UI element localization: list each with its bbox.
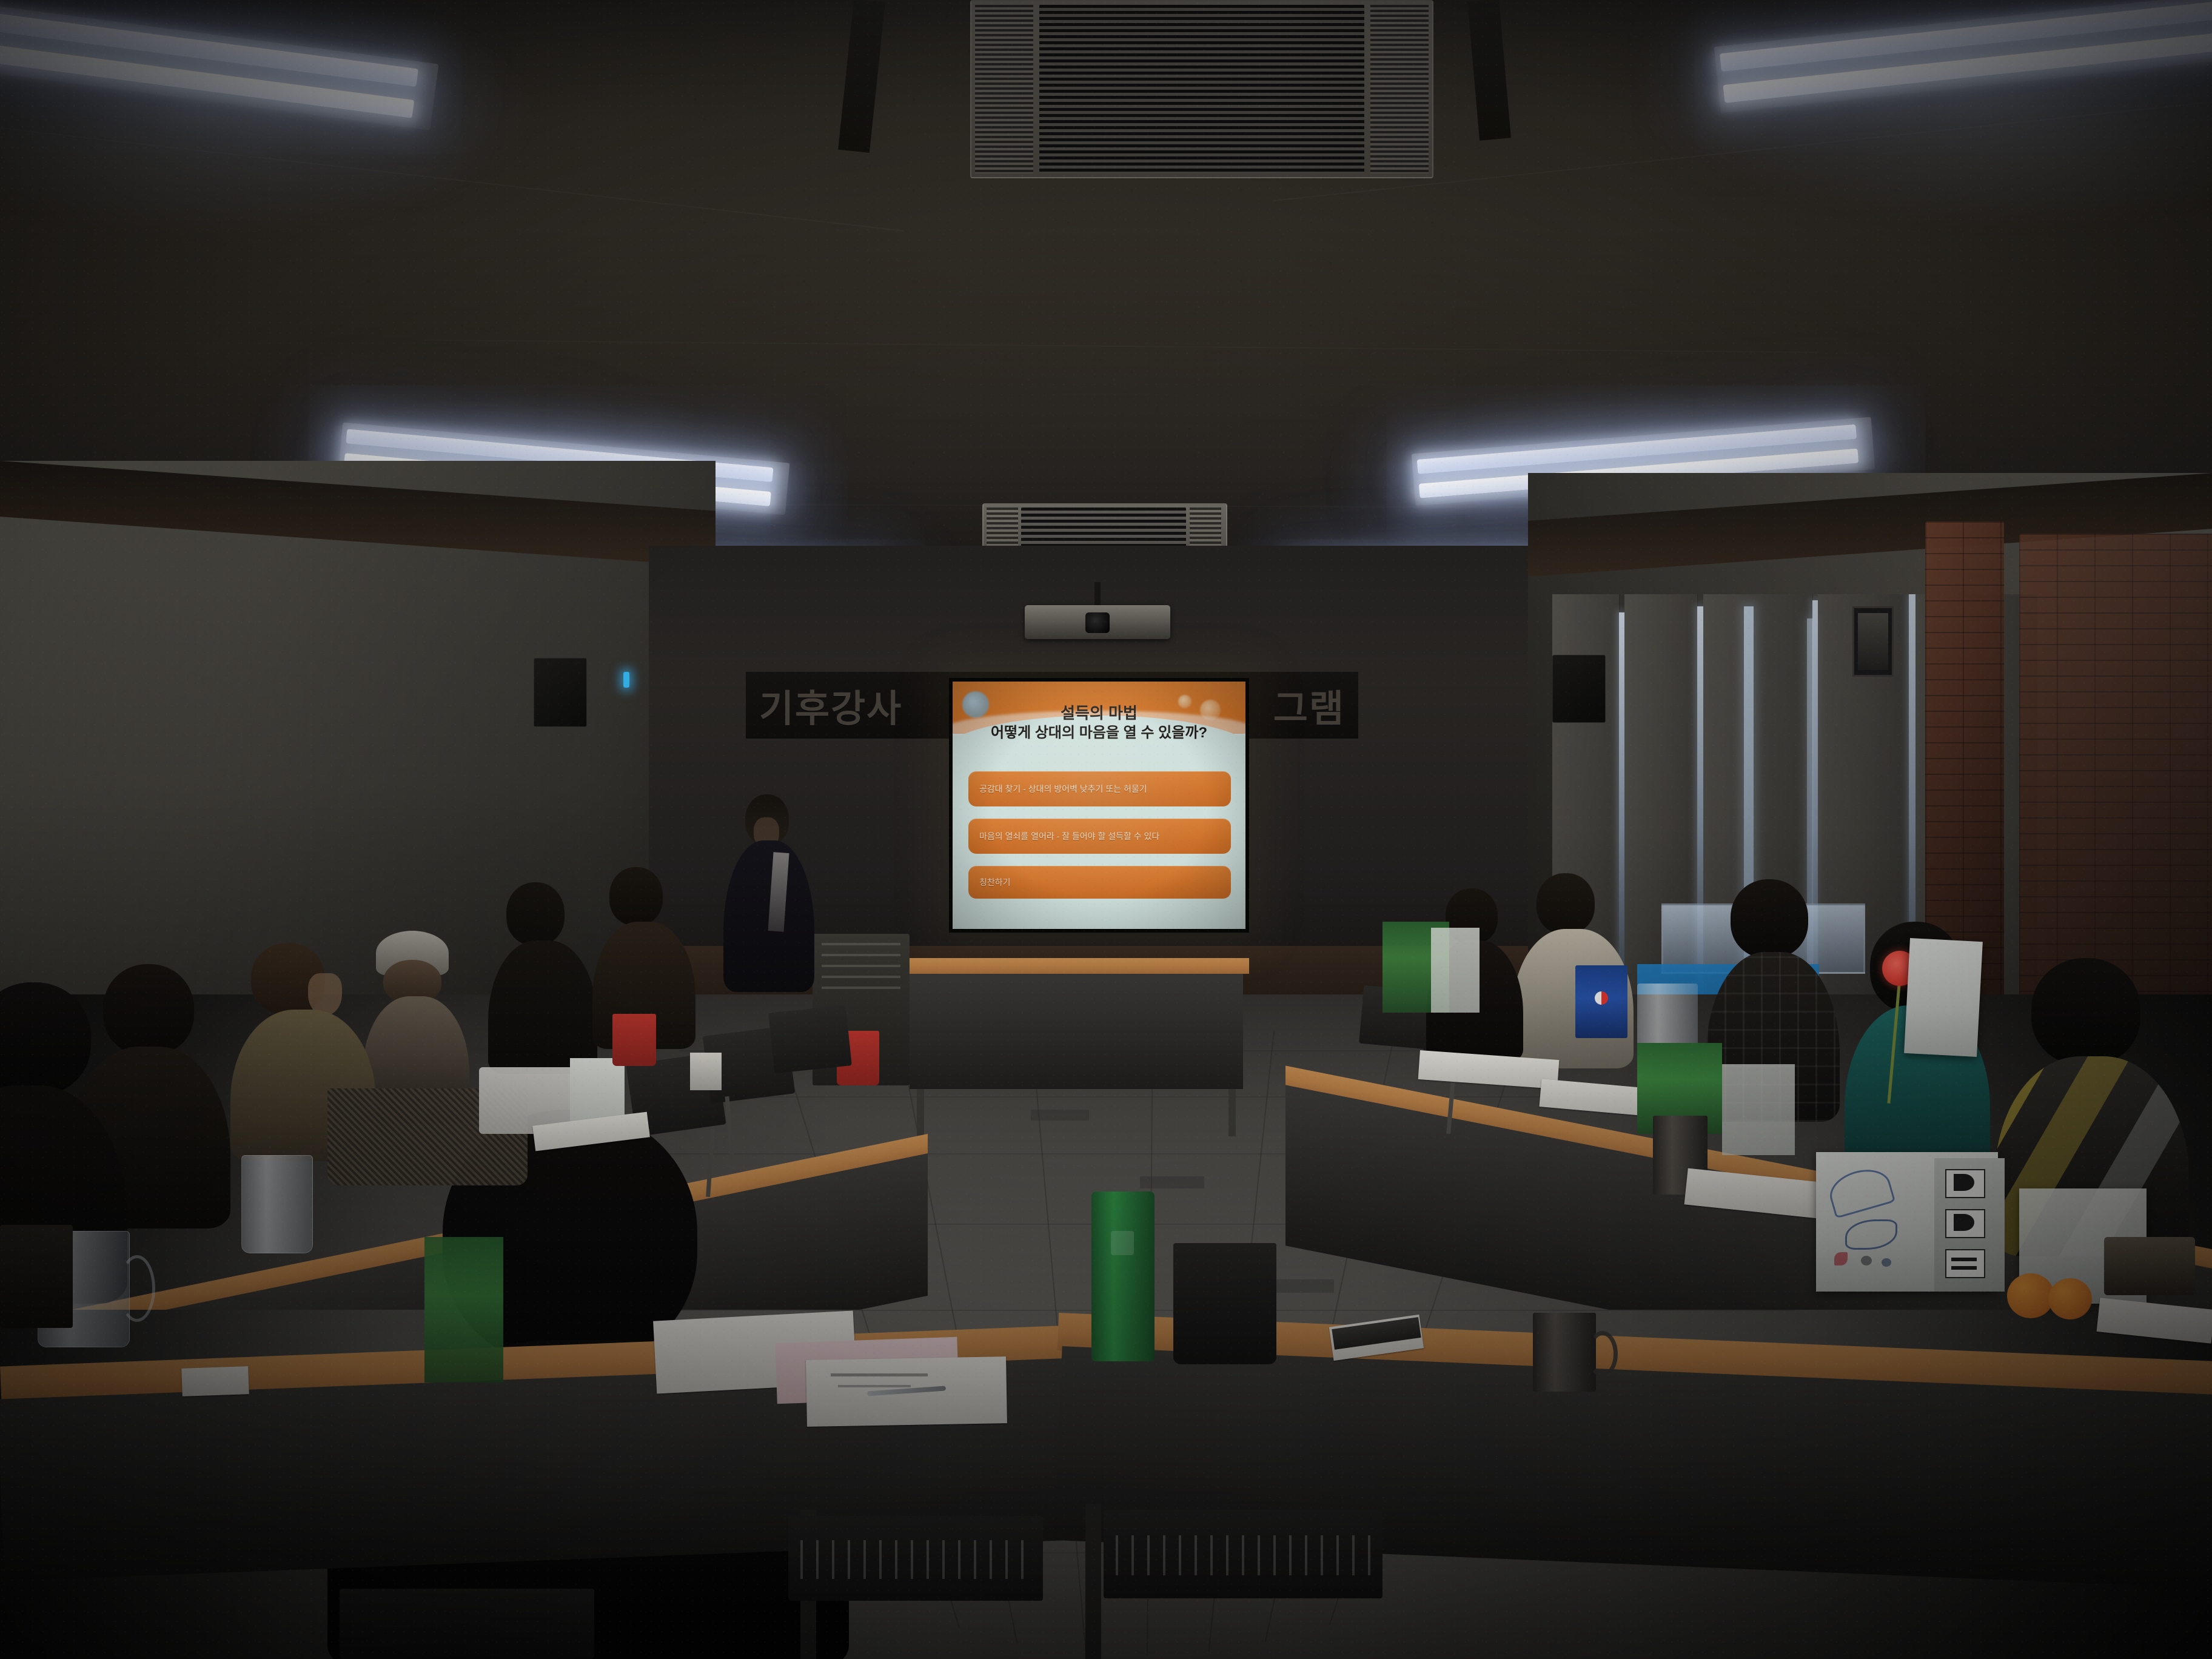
- beverage-carton-green[interactable]: [424, 1237, 503, 1382]
- board-slats: [822, 943, 900, 997]
- craft-box-side: [1934, 1158, 2005, 1292]
- chair-slats: [800, 1540, 1031, 1579]
- table-leg: [1085, 1504, 1101, 1659]
- cup[interactable]: [690, 1053, 722, 1090]
- chair-slats: [1116, 1535, 1370, 1575]
- presentation-slide: 설득의 마법 어떻게 상대의 마음을 열 수 있을까? 공감대 찾기 - 상대의…: [953, 682, 1245, 929]
- ceiling-projector: [1025, 605, 1170, 639]
- green-bottle[interactable]: [1091, 1191, 1155, 1361]
- pitcher-handle: [119, 1255, 155, 1322]
- projector-mount: [1094, 582, 1101, 606]
- bag[interactable]: [2104, 1237, 2195, 1295]
- chair[interactable]: [768, 1005, 852, 1074]
- slide-bullet-3: 칭찬하기: [968, 866, 1231, 899]
- front-table-panel: [910, 974, 1243, 1089]
- note-card[interactable]: [181, 1366, 249, 1396]
- beverage-carton[interactable]: [570, 1058, 625, 1125]
- table-leg: [1228, 1089, 1236, 1136]
- red-cup[interactable]: [612, 1014, 656, 1066]
- slide-subtitle: 어떻게 상대의 마음을 열 수 있을까?: [953, 720, 1245, 742]
- paper-writing: [831, 1373, 928, 1376]
- banner-left-text: 기후강사: [759, 678, 902, 732]
- paper-writing: [838, 1385, 911, 1387]
- slide-bullet-1: 공감대 찾기 - 상대의 방어벽 낮추기 또는 허물기: [968, 771, 1231, 806]
- craft-box-drawing: [1822, 1161, 1931, 1282]
- plant-pot[interactable]: [1173, 1243, 1276, 1364]
- thermos-handle: [1587, 1331, 1618, 1377]
- projection-screen: 설득의 마법 어떻게 상대의 마음을 열 수 있을까? 공감대 찾기 - 상대의…: [949, 678, 1249, 933]
- beverage-carton[interactable]: [1722, 1064, 1795, 1155]
- slide-bullet-2: 마음의 열쇠를 열어라 - 잘 들어야 할 설득할 수 있다: [968, 819, 1231, 854]
- tangerine[interactable]: [2007, 1273, 2054, 1318]
- framed-notice: [1852, 606, 1894, 677]
- banner-right-text: 그램: [1273, 678, 1345, 732]
- bottle-label: [1111, 1231, 1134, 1255]
- water-pitcher[interactable]: [241, 1155, 313, 1253]
- front-table-top: [903, 958, 1249, 974]
- thermos[interactable]: [1533, 1313, 1596, 1392]
- cola-can[interactable]: [1575, 965, 1627, 1038]
- chair[interactable]: [340, 1589, 594, 1659]
- beverage-carton[interactable]: [1431, 928, 1480, 1013]
- meeting-room-photo: 기후강사 그램 설득의 마법 어떻게 상대의 마음을 열 수 있을까? 공감대 …: [0, 0, 2212, 1659]
- craft-box-lid: [1904, 938, 1983, 1057]
- wall-speaker-left: [534, 658, 587, 727]
- bag-dark[interactable]: [0, 1225, 73, 1328]
- tangerine[interactable]: [2048, 1278, 2092, 1319]
- status-led: [623, 672, 629, 688]
- ceiling-air-vent: [970, 0, 1433, 178]
